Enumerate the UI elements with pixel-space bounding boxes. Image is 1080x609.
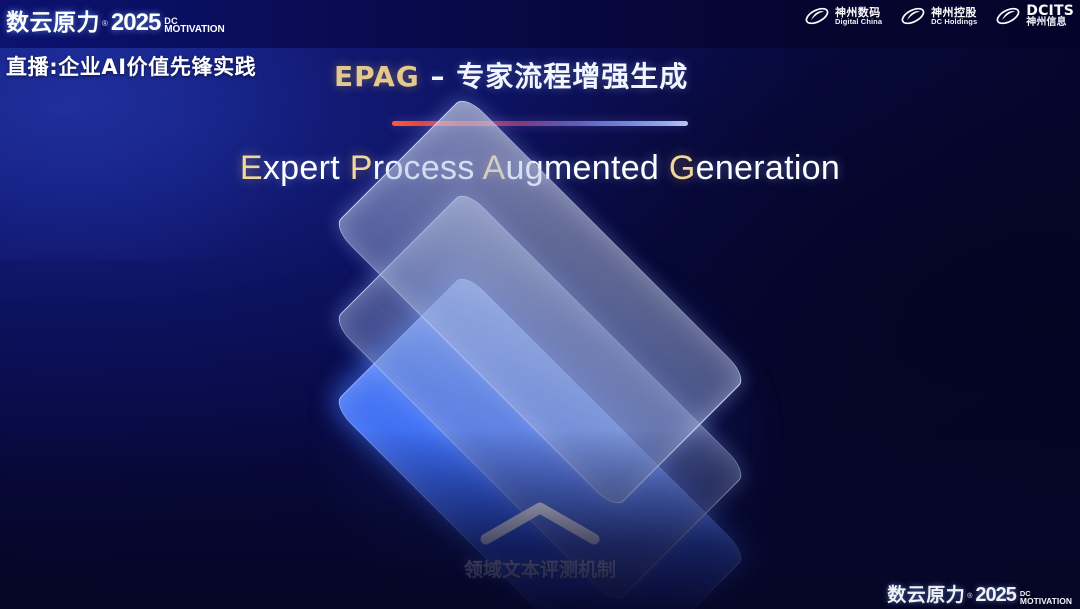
brand-digital-china: 神州数码 Digital China [804, 5, 882, 27]
event-logo-year: 2025 [111, 9, 160, 37]
brand-text: DCITS 神州信息 [1026, 4, 1074, 28]
page-title: EPAG – 专家流程增强生成 [334, 55, 688, 95]
event-logo-motivation: MOTIVATION [164, 25, 224, 35]
registered-mark: ® [967, 593, 972, 600]
title-dash: – [420, 60, 457, 93]
watermark-cn: 数云原力 [887, 580, 965, 607]
subtitle-cap-e: E [240, 149, 263, 187]
watermark-motivation: MOTIVATION [1020, 597, 1072, 605]
watermark-tagline: DC MOTIVATION [1020, 590, 1072, 605]
brand-dc-holdings: 神州控股 DC Holdings [900, 5, 977, 27]
swirl-icon [995, 5, 1021, 27]
event-logo-tagline: DC MOTIVATION [164, 17, 224, 35]
title-chinese: 专家流程增强生成 [456, 60, 688, 93]
brand-name-en: Digital China [835, 18, 882, 26]
brand-name-en: DC Holdings [931, 18, 977, 26]
brand-logo-bar: 神州数码 Digital China 神州控股 DC Holdings [804, 4, 1074, 28]
slide-canvas: 数云原力 ® 2025 DC MOTIVATION 直播:企业AI价值先锋实践 … [0, 0, 1080, 609]
subtitle-word-expert: xpert [263, 149, 350, 187]
livestream-subtitle: 直播:企业AI价值先锋实践 [6, 51, 256, 81]
subtitle-word-generation: eneration [696, 149, 840, 187]
title-acronym: EPAG [334, 60, 420, 93]
subtitle-cap-p: P [350, 149, 373, 187]
subtitle-cap-g: G [669, 149, 696, 187]
brand-dcits: DCITS 神州信息 [995, 4, 1074, 28]
registered-mark: ® [102, 19, 108, 28]
swirl-icon [900, 5, 926, 27]
brand-text: 神州控股 DC Holdings [931, 7, 977, 26]
swirl-icon [804, 5, 830, 27]
event-logo: 数云原力 ® 2025 DC MOTIVATION [6, 3, 225, 37]
brand-text: 神州数码 Digital China [835, 7, 882, 26]
event-logo-cn: 数云原力 [6, 3, 100, 37]
brand-name-cn: 神州信息 [1026, 18, 1074, 28]
watermark-year: 2025 [975, 584, 1016, 607]
watermark-logo: 数云原力 ® 2025 DC MOTIVATION [887, 580, 1072, 607]
